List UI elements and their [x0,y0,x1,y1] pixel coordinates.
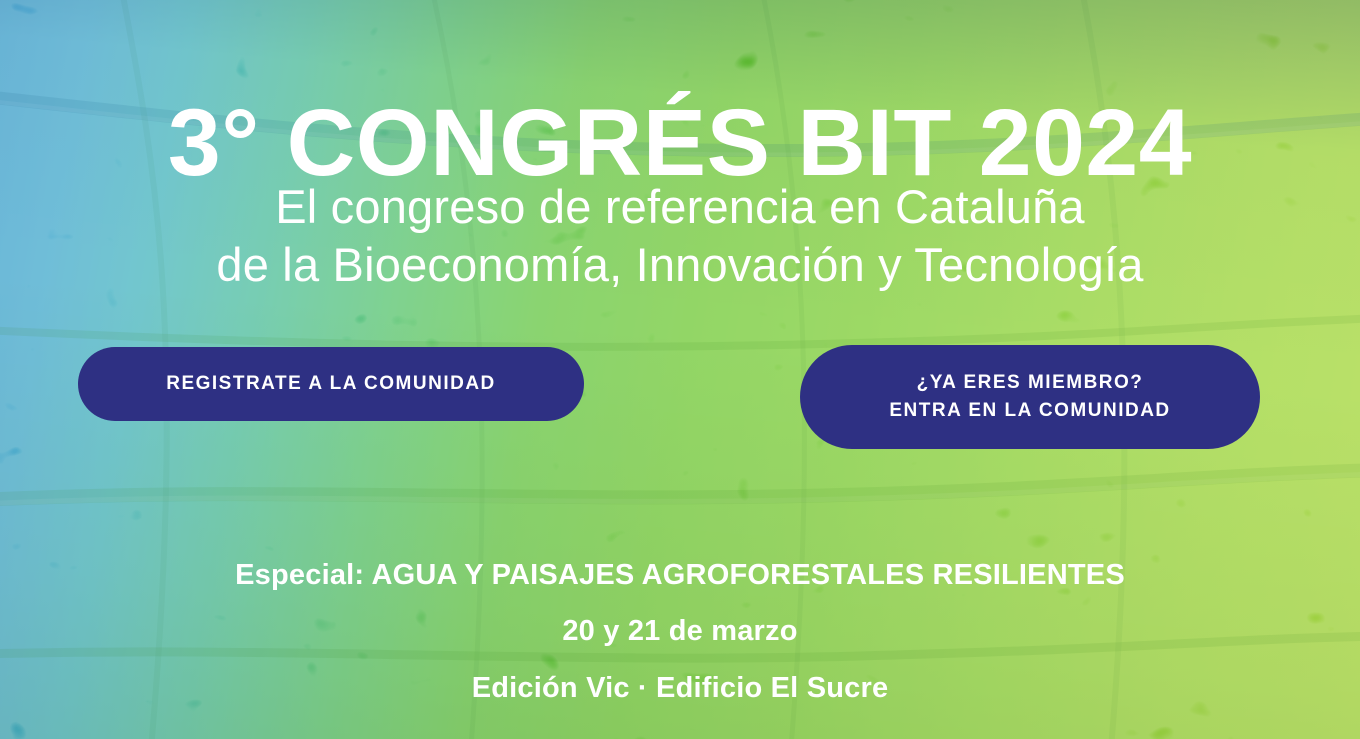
event-dates: 20 y 21 de marzo [0,612,1360,650]
hero-subtitle: El congreso de referencia en Cataluña de… [0,178,1360,294]
hero-content: 3° CONGRÉS BIT 2024 El congreso de refer… [0,0,1360,739]
member-button-line-2: ENTRA EN LA COMUNIDAD [889,397,1170,425]
register-community-button[interactable]: REGISTRATE A LA COMUNIDAD [78,347,584,421]
event-info: Especial: AGUA Y PAISAJES AGROFORESTALES… [0,556,1360,707]
event-special-topic: Especial: AGUA Y PAISAJES AGROFORESTALES… [0,556,1360,594]
subtitle-line-2: de la Bioeconomía, Innovación y Tecnolog… [0,236,1360,294]
event-venue: Edición Vic · Edificio El Sucre [0,669,1360,707]
member-login-button[interactable]: ¿YA ERES MIEMBRO? ENTRA EN LA COMUNIDAD [800,345,1260,449]
subtitle-line-1: El congreso de referencia en Cataluña [0,178,1360,236]
member-button-line-1: ¿YA ERES MIEMBRO? [889,369,1170,397]
hero-banner: 3° CONGRÉS BIT 2024 El congreso de refer… [0,0,1360,739]
